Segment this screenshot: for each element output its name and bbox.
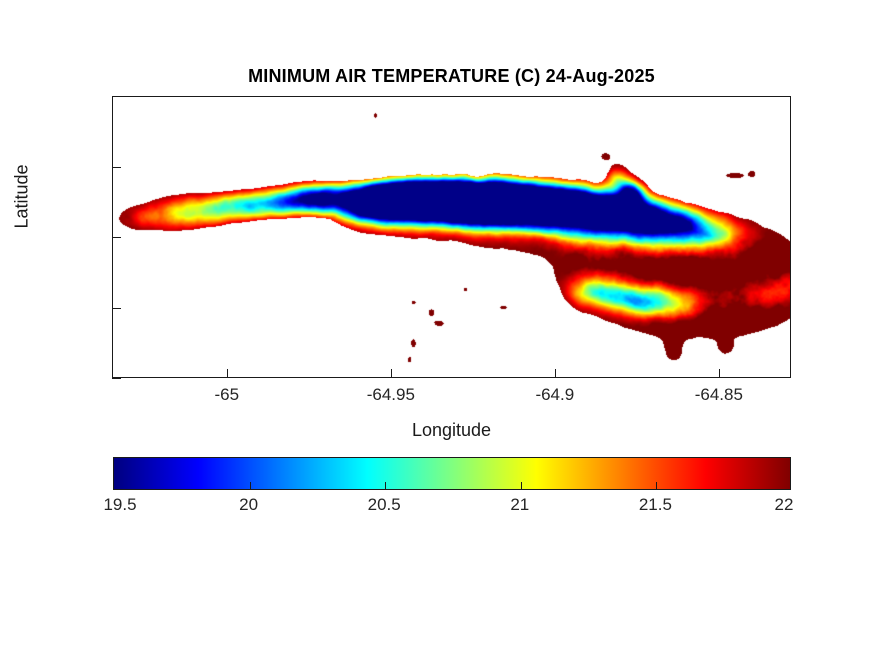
chart-title: MINIMUM AIR TEMPERATURE (C) 24-Aug-2025: [112, 66, 791, 87]
colorbar-tick-label-0: 19.5: [60, 495, 180, 515]
colorbar-tick-2: [385, 482, 386, 489]
map-axes: [112, 96, 791, 378]
colorbar-tick-label-4: 21.5: [595, 495, 715, 515]
x-tick-1: [391, 369, 392, 378]
x-tick-label-1: -64.95: [331, 385, 451, 405]
figure-canvas: MINIMUM AIR TEMPERATURE (C) 24-Aug-2025 …: [0, 0, 875, 656]
y-tick-2: [112, 237, 121, 238]
x-tick-3: [719, 369, 720, 378]
colorbar-tick-label-3: 21: [460, 495, 580, 515]
x-tick-0: [227, 369, 228, 378]
x-tick-label-3: -64.85: [659, 385, 779, 405]
temperature-heatmap: [113, 97, 791, 378]
x-axis-label: Longitude: [112, 420, 791, 441]
x-tick-label-0: -65: [167, 385, 287, 405]
colorbar-tick-3: [521, 482, 522, 489]
colorbar-tick-label-5: 22: [724, 495, 844, 515]
y-tick-1: [112, 308, 121, 309]
colorbar: [113, 457, 791, 490]
colorbar-tick-1: [250, 482, 251, 489]
x-tick-2: [555, 369, 556, 378]
y-axis-label: Latitude: [12, 137, 33, 257]
colorbar-tick-label-2: 20.5: [324, 495, 444, 515]
colorbar-tick-4: [656, 482, 657, 489]
y-tick-3: [112, 167, 121, 168]
y-tick-0: [112, 378, 121, 379]
y-tick-4: [112, 96, 121, 97]
colorbar-gradient: [114, 458, 790, 489]
x-tick-label-2: -64.9: [495, 385, 615, 405]
colorbar-tick-label-1: 20: [189, 495, 309, 515]
